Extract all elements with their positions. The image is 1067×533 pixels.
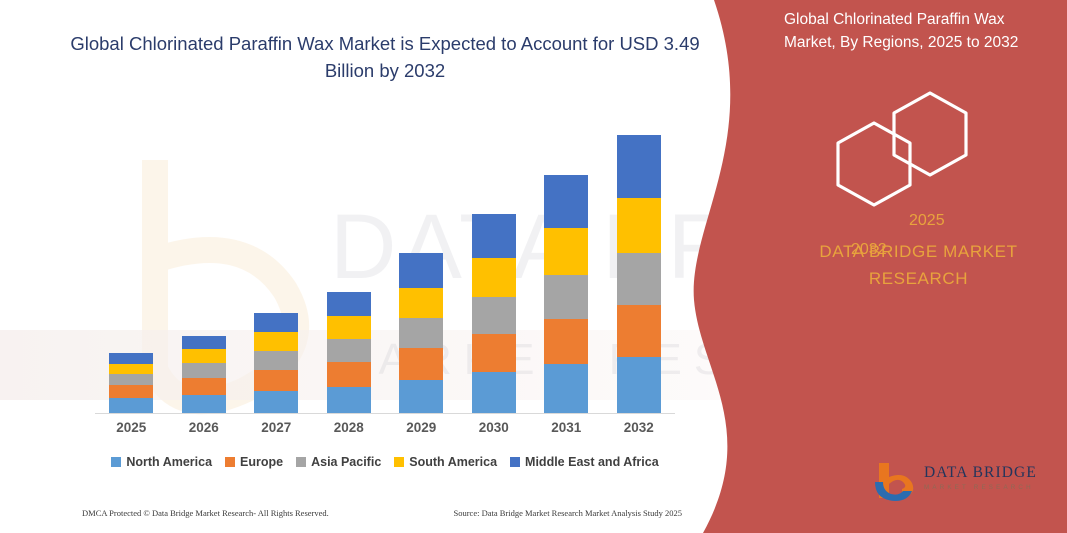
bar-segment bbox=[472, 214, 516, 258]
chart-legend: North AmericaEuropeAsia PacificSouth Ame… bbox=[95, 455, 675, 469]
bar-segment bbox=[327, 362, 371, 387]
x-axis-label-2032: 2032 bbox=[603, 420, 675, 435]
infographic-canvas: DATA BRIDGE MARKET RESEARCH Global Chlor… bbox=[0, 0, 1067, 533]
footer-source: Source: Data Bridge Market Research Mark… bbox=[453, 508, 682, 518]
legend-label: Europe bbox=[240, 455, 283, 469]
legend-swatch-icon bbox=[111, 457, 121, 467]
brand-line-1: DATA BRIDGE MARKET bbox=[770, 238, 1067, 265]
bar-column-2032 bbox=[603, 100, 675, 413]
brand-name: DATA BRIDGE MARKET RESEARCH bbox=[770, 238, 1067, 292]
bar-segment bbox=[254, 370, 298, 391]
hexagon-2025-label: 2025 bbox=[909, 212, 945, 230]
hexagon-2025-shape bbox=[894, 93, 966, 175]
x-axis-label-2030: 2030 bbox=[458, 420, 530, 435]
chart-baseline-axis bbox=[95, 413, 675, 414]
panel-title: Global Chlorinated Paraffin Wax Market, … bbox=[784, 8, 1056, 54]
x-axis-label-2027: 2027 bbox=[240, 420, 312, 435]
bar-segment bbox=[182, 363, 226, 378]
x-axis-label-2028: 2028 bbox=[313, 420, 385, 435]
bar-column-2025 bbox=[95, 100, 167, 413]
stacked-bar[interactable] bbox=[182, 336, 226, 413]
bar-segment bbox=[544, 364, 588, 413]
legend-label: Asia Pacific bbox=[311, 455, 381, 469]
bar-segment bbox=[254, 351, 298, 370]
x-axis-label-2025: 2025 bbox=[95, 420, 167, 435]
stacked-bar[interactable] bbox=[254, 313, 298, 413]
bar-segment bbox=[254, 313, 298, 332]
hexagon-2032-shape bbox=[838, 123, 910, 205]
hexagon-group: 2025 2032 bbox=[770, 85, 1067, 215]
x-axis-label-2031: 2031 bbox=[530, 420, 602, 435]
legend-swatch-icon bbox=[225, 457, 235, 467]
legend-item-middle-east-and-africa[interactable]: Middle East and Africa bbox=[510, 455, 659, 469]
bar-segment bbox=[109, 353, 153, 364]
bridge-logo-icon bbox=[872, 458, 920, 506]
bar-segment bbox=[182, 378, 226, 395]
stacked-bar-chart bbox=[95, 100, 675, 413]
legend-item-south-america[interactable]: South America bbox=[394, 455, 497, 469]
stacked-bar[interactable] bbox=[327, 292, 371, 413]
bar-column-2030 bbox=[458, 100, 530, 413]
stacked-bar[interactable] bbox=[617, 135, 661, 413]
legend-swatch-icon bbox=[394, 457, 404, 467]
stacked-bar[interactable] bbox=[399, 253, 443, 413]
logo-wordmark: DATA BRIDGE MARKET RESEARCH bbox=[924, 464, 1037, 491]
bar-segment bbox=[399, 253, 443, 288]
legend-swatch-icon bbox=[296, 457, 306, 467]
bar-column-2026 bbox=[168, 100, 240, 413]
bar-segment bbox=[544, 228, 588, 275]
bar-segment bbox=[254, 332, 298, 351]
bar-segment bbox=[109, 364, 153, 374]
bar-segment bbox=[617, 357, 661, 413]
bar-segment bbox=[109, 374, 153, 385]
legend-item-north-america[interactable]: North America bbox=[111, 455, 212, 469]
brand-panel: Global Chlorinated Paraffin Wax Market, … bbox=[770, 0, 1067, 533]
bar-column-2028 bbox=[313, 100, 385, 413]
bar-segment bbox=[399, 348, 443, 380]
bar-segment bbox=[617, 305, 661, 357]
bar-column-2029 bbox=[385, 100, 457, 413]
logo-sub-text: MARKET RESEARCH bbox=[924, 484, 1037, 491]
x-axis-label-2029: 2029 bbox=[385, 420, 457, 435]
bar-segment bbox=[617, 135, 661, 198]
logo-main-text: DATA BRIDGE bbox=[924, 464, 1037, 482]
bar-column-2031 bbox=[530, 100, 602, 413]
chart-panel: Global Chlorinated Paraffin Wax Market i… bbox=[0, 0, 760, 533]
bar-column-2027 bbox=[240, 100, 312, 413]
x-axis-label-2026: 2026 bbox=[168, 420, 240, 435]
company-logo: DATA BRIDGE MARKET RESEARCH bbox=[872, 458, 1057, 510]
legend-label: North America bbox=[126, 455, 212, 469]
bar-segment bbox=[617, 253, 661, 305]
bar-segment bbox=[327, 339, 371, 362]
stacked-bar[interactable] bbox=[109, 353, 153, 413]
bar-segment bbox=[327, 316, 371, 339]
bar-segment bbox=[544, 175, 588, 228]
bar-segment bbox=[544, 275, 588, 319]
bar-segment bbox=[399, 288, 443, 318]
legend-label: Middle East and Africa bbox=[525, 455, 659, 469]
bar-segment bbox=[472, 258, 516, 297]
legend-label: South America bbox=[409, 455, 497, 469]
footer: DMCA Protected © Data Bridge Market Rese… bbox=[82, 508, 682, 518]
legend-swatch-icon bbox=[510, 457, 520, 467]
bar-segment bbox=[399, 318, 443, 348]
stacked-bar[interactable] bbox=[472, 214, 516, 413]
bar-segment bbox=[327, 387, 371, 413]
stacked-bar[interactable] bbox=[544, 175, 588, 413]
footer-copyright: DMCA Protected © Data Bridge Market Rese… bbox=[82, 508, 329, 518]
legend-item-europe[interactable]: Europe bbox=[225, 455, 283, 469]
bar-segment bbox=[254, 391, 298, 413]
x-axis-labels: 20252026202720282029203020312032 bbox=[95, 420, 675, 435]
legend-item-asia-pacific[interactable]: Asia Pacific bbox=[296, 455, 381, 469]
bar-segment bbox=[109, 385, 153, 398]
bar-segment bbox=[544, 319, 588, 364]
bar-segment bbox=[472, 372, 516, 413]
bar-segment bbox=[399, 380, 443, 413]
bar-segment bbox=[327, 292, 371, 316]
bar-segment bbox=[182, 349, 226, 363]
bar-segment bbox=[472, 334, 516, 372]
bar-segment bbox=[472, 297, 516, 334]
bar-segment bbox=[109, 398, 153, 413]
hexagon-outlines-icon bbox=[770, 85, 1067, 215]
bar-segment bbox=[182, 395, 226, 413]
brand-line-2: RESEARCH bbox=[770, 265, 1067, 292]
chart-title: Global Chlorinated Paraffin Wax Market i… bbox=[60, 30, 710, 84]
bar-segment bbox=[617, 198, 661, 253]
bar-segment bbox=[182, 336, 226, 349]
